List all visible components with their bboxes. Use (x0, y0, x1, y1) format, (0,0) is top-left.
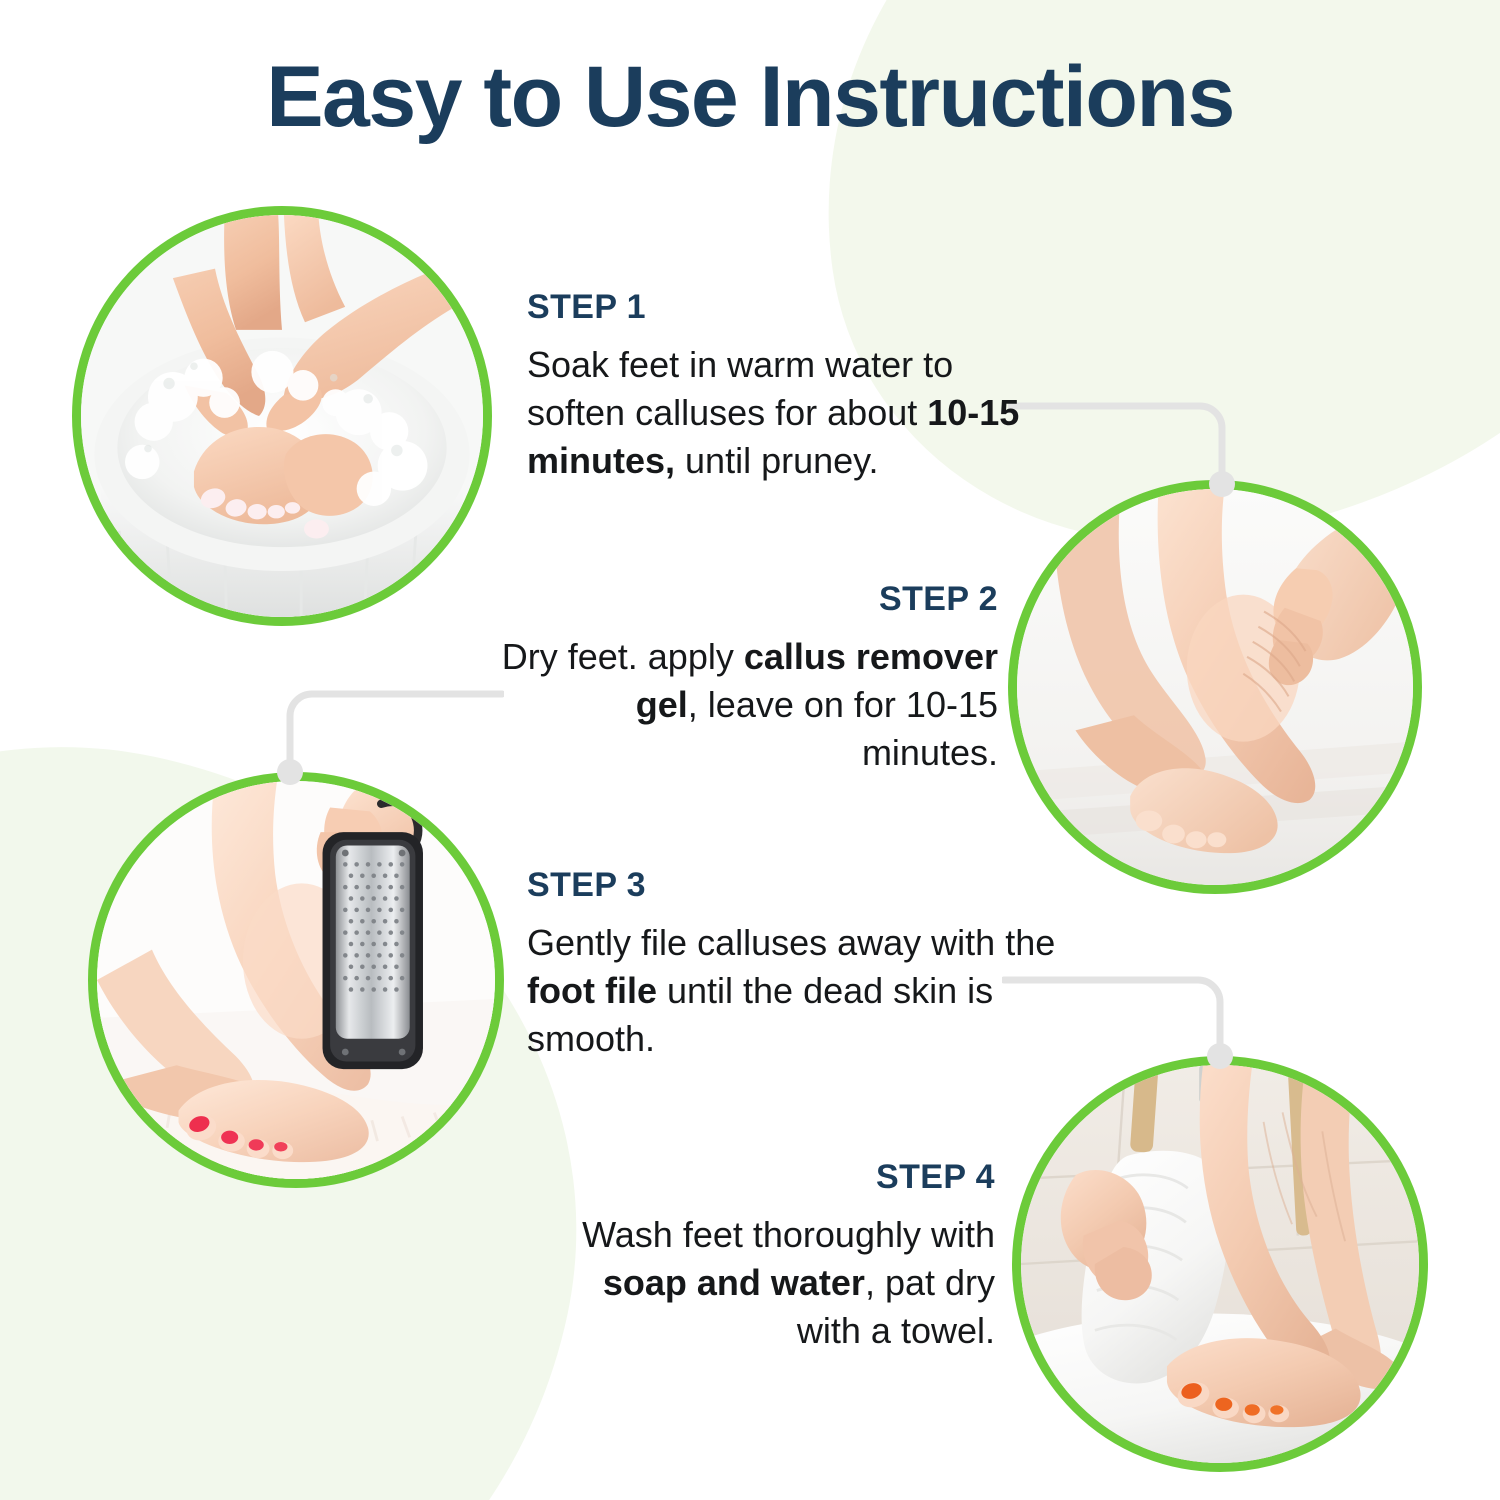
step-3-label: STEP 3 (527, 866, 1067, 905)
infographic-canvas: Easy to Use Instructions (0, 0, 1500, 1500)
step-2-label: STEP 2 (498, 580, 998, 619)
step-1-label: STEP 1 (527, 288, 1047, 327)
step-3-text-block: STEP 3 Gently file calluses away with th… (527, 866, 1067, 1063)
hand-touching-heel-illustration (1017, 489, 1413, 885)
step-3-image (88, 772, 504, 1188)
step-4-image (1012, 1056, 1428, 1472)
step-2-text-block: STEP 2 Dry feet. apply callus remover ge… (498, 580, 998, 777)
step-2-body: Dry feet. apply callus remover gel, leav… (498, 633, 998, 777)
step-4-text-block: STEP 4 Wash feet thoroughly with soap an… (545, 1158, 995, 1355)
step-1-text-block: STEP 1 Soak feet in warm water to soften… (527, 288, 1047, 485)
step-2-image (1008, 480, 1422, 894)
feet-soaking-basin-illustration (81, 215, 483, 617)
page-title: Easy to Use Instructions (0, 52, 1500, 142)
step-1-image (72, 206, 492, 626)
step-1-body: Soak feet in warm water to soften callus… (527, 341, 1047, 485)
step-4-label: STEP 4 (545, 1158, 995, 1197)
foot-file-illustration (97, 781, 495, 1179)
step-3-body: Gently file calluses away with the foot … (527, 919, 1067, 1063)
step-4-body: Wash feet thoroughly with soap and water… (545, 1211, 995, 1355)
towel-drying-feet-illustration (1021, 1065, 1419, 1463)
